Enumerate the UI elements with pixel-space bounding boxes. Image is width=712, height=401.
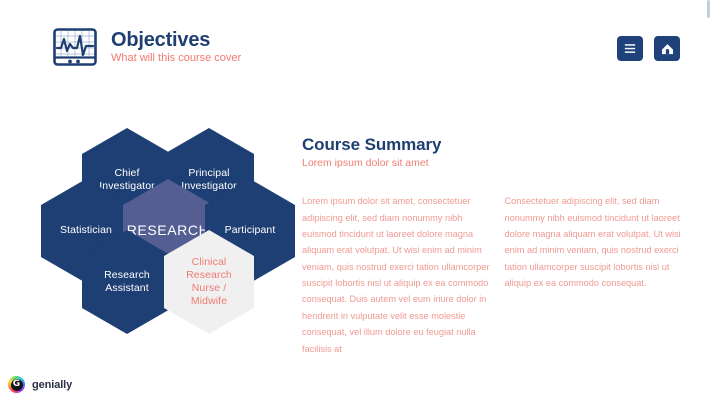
hex-label: PrincipalInvestigator [181,167,236,193]
summary-subtitle: Lorem ipsum dolor sit amet [302,157,682,169]
summary-columns: Lorem ipsum dolor sit amet, consectetuer… [302,184,692,366]
home-button[interactable] [654,36,680,61]
page-subtitle: What will this course cover [111,53,241,64]
hamburger-menu-icon [624,43,636,54]
page-scrollbar[interactable] [706,0,712,401]
course-summary-heading-block: Course Summary Lorem ipsum dolor sit ame… [302,135,682,169]
hex-label: Statistician [60,224,112,237]
genially-brand-label: genially [32,379,72,391]
ecg-monitor-icon [52,27,98,67]
research-roles-hexagon-diagram: ChiefInvestigator PrincipalInvestigator … [40,128,296,333]
hex-label: ClinicalResearchNurse /Midwife [186,256,232,309]
hex-label: Participant [225,224,276,237]
genially-watermark[interactable]: G genially [8,376,72,393]
hex-label: ResearchAssistant [104,269,150,295]
summary-column-right: Consectetuer adipiscing elit, sed diam n… [505,193,693,357]
scrollbar-thumb[interactable] [707,0,710,18]
header-text-block: Objectives What will this course cover [111,30,241,64]
summary-title: Course Summary [302,135,682,155]
page-title: Objectives [111,30,241,50]
hex-label: ChiefInvestigator [99,167,154,193]
menu-button[interactable] [617,36,643,61]
genially-logo-icon: G [8,376,25,393]
page-header: Objectives What will this course cover [52,27,241,67]
summary-column-left: Lorem ipsum dolor sit amet, consectetuer… [302,193,490,357]
top-controls [617,36,680,61]
home-icon [661,43,674,55]
genially-badge-letter: G [13,380,20,389]
